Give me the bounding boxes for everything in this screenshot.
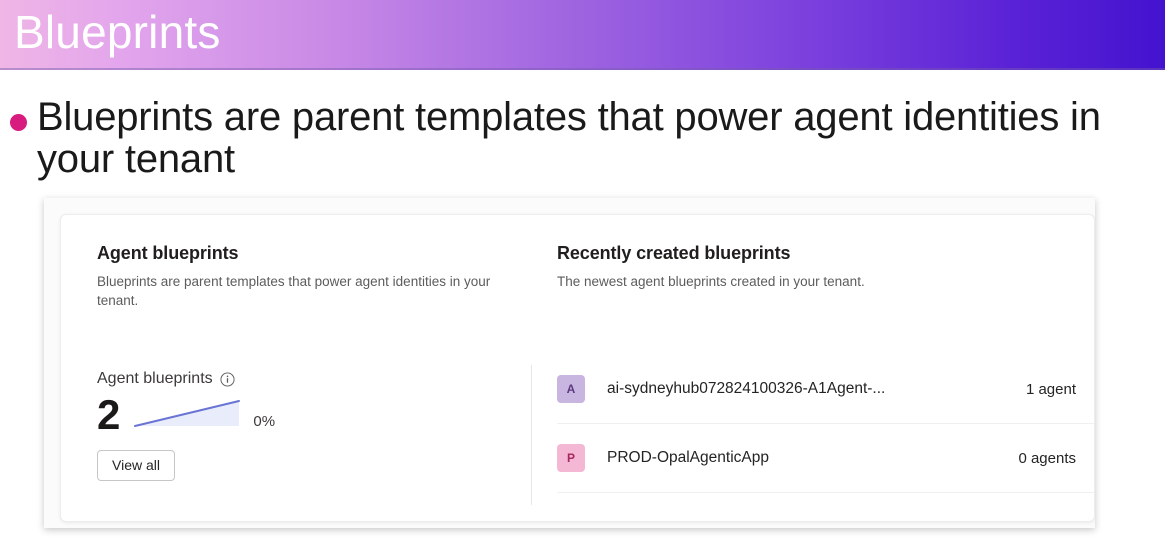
blueprint-agent-count: 1 agent [1010, 381, 1076, 398]
metric-value: 2 [97, 394, 119, 436]
list-item[interactable]: A ai-sydneyhub072824100326-A1Agent-... 1… [557, 355, 1094, 424]
sparkline-chart [133, 397, 241, 434]
blueprint-name: ai-sydneyhub072824100326-A1Agent-... [607, 380, 994, 398]
agent-blueprints-dashboard-card: Agent blueprints Blueprints are parent t… [60, 214, 1095, 522]
agent-blueprints-panel: Agent blueprints Blueprints are parent t… [61, 215, 531, 521]
slide-title: Blueprints [14, 1, 221, 63]
list-item[interactable]: P PROD-OpalAgenticApp 0 agents [557, 424, 1094, 493]
agent-blueprints-heading: Agent blueprints [97, 243, 531, 264]
metric-label: Agent blueprints [97, 370, 213, 388]
recently-created-heading: Recently created blueprints [557, 243, 1094, 264]
avatar: A [557, 375, 585, 403]
slide-header-band: Blueprints [0, 0, 1165, 70]
avatar: P [557, 444, 585, 472]
metric-delta-percent: 0% [253, 413, 275, 430]
view-all-button[interactable]: View all [97, 450, 175, 481]
recently-created-subtext: The newest agent blueprints created in y… [557, 272, 1057, 291]
embedded-screenshot-frame: Agent blueprints Blueprints are parent t… [44, 198, 1095, 528]
blueprint-agent-count: 0 agents [998, 450, 1076, 467]
bullet-row: Blueprints are parent templates that pow… [10, 96, 1165, 180]
bullet-dot-icon [10, 114, 27, 131]
bullet-text: Blueprints are parent templates that pow… [37, 96, 1157, 180]
blueprint-list: A ai-sydneyhub072824100326-A1Agent-... 1… [557, 355, 1094, 493]
agent-blueprints-metric-block: Agent blueprints 2 [97, 370, 275, 481]
info-circle-icon[interactable] [220, 372, 235, 387]
metric-label-row: Agent blueprints [97, 370, 275, 388]
blueprint-name: PROD-OpalAgenticApp [607, 449, 982, 467]
recently-created-blueprints-panel: Recently created blueprints The newest a… [531, 215, 1094, 521]
agent-blueprints-subtext: Blueprints are parent templates that pow… [97, 272, 502, 310]
metric-value-row: 2 0% [97, 394, 275, 436]
